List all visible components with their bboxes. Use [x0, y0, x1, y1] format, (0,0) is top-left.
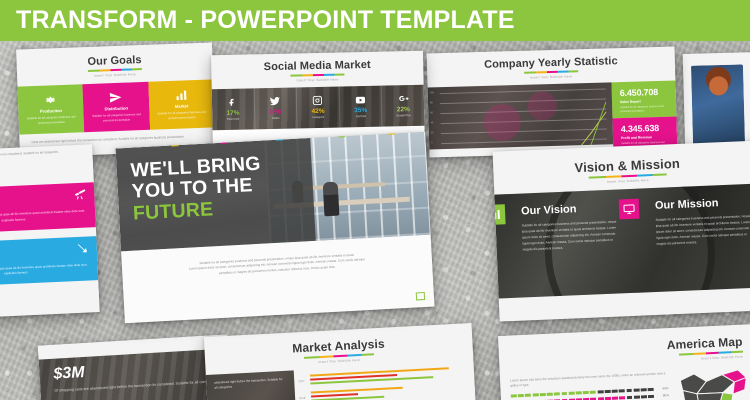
youtube-icon	[354, 94, 367, 105]
mission-body: Suitable for all categories business and…	[655, 212, 750, 246]
vision-mission-body: Our Vision Suitable for all categories b…	[494, 183, 750, 298]
line-chart-series	[440, 88, 611, 149]
goals-column-desc: Suitable for all categories business and…	[90, 112, 144, 123]
goals-footer-text: carts are abandoned right before the tra…	[31, 133, 203, 145]
testimonial-avatar	[691, 64, 745, 145]
hero-office-photo: WE'LL BRING YOU TO THE FUTURE	[115, 132, 430, 252]
vision-column[interactable]: Our Vision Suitable for all categories b…	[494, 189, 632, 299]
swot-block-desc: categories business and personal neque i…	[0, 209, 88, 227]
telescope-icon	[73, 188, 87, 207]
vision-heading: Our Vision	[521, 201, 619, 217]
header-banner: TRANSFORM - POWERPOINT TEMPLATE	[0, 0, 750, 41]
statistic-cards: 6.450.708 Sales Report Suitable for all …	[611, 80, 677, 144]
goals-column-desc: Suitable for all categories business and…	[25, 115, 79, 126]
paper-plane-icon	[108, 91, 123, 105]
map-body-text: Lorem Ipsum has been the industry's stan…	[510, 371, 668, 389]
social-stat-label: Google Plus	[396, 114, 411, 117]
slide-market-analysis[interactable]: Market Analysis Insert Your Subtitle Her…	[204, 323, 476, 400]
social-stat-youtube[interactable]: 35% YouTube	[339, 85, 382, 127]
monitor-icon	[619, 198, 640, 219]
social-stat-google-plus[interactable]: 22% Google Plus	[382, 84, 424, 126]
social-stat-value: 17%	[226, 110, 239, 117]
mission-heading: Our Mission	[655, 195, 750, 211]
stat-label: Profit and Revenue	[621, 135, 671, 140]
gear-icon	[44, 93, 57, 106]
social-stat-label: Twitter	[272, 117, 280, 120]
social-stat-label: YouTube	[356, 115, 367, 118]
slide-three-million[interactable]: $3M Of shopping carts are abandoned righ…	[38, 334, 232, 400]
stat-card-sales-report[interactable]: 6.450.708 Sales Report Suitable for all …	[611, 80, 676, 118]
stat-label: Sales Report	[620, 98, 670, 103]
facebook-icon	[226, 97, 239, 108]
map-progress-bars: 60%80%	[511, 387, 669, 400]
stat-number: 4.345.638	[621, 123, 671, 134]
social-stat-label: Face book	[227, 118, 240, 121]
map-progress-value: 60%	[657, 387, 669, 392]
yearly-line-chart: 100 80 60 40 20 0	[428, 82, 614, 149]
swot-block-weakness[interactable]: Weakness categories business and persona…	[0, 183, 96, 235]
google-plus-icon	[396, 93, 409, 104]
goals-column-production[interactable]: Production Suitable for all categories b…	[17, 84, 84, 134]
market-bar-category: 2017	[298, 378, 307, 382]
bar-chart-icon	[494, 204, 505, 225]
page-title: TRANSFORM - POWERPOINT TEMPLATE	[0, 6, 515, 35]
social-stat-value: 42%	[312, 108, 325, 115]
goals-column-market[interactable]: Market Suitable for all categories busin…	[148, 79, 215, 129]
map-progress-value: 80%	[657, 394, 669, 399]
slide-company-yearly-statistic[interactable]: Company Yearly Statistic Insert Your Sub…	[427, 47, 678, 158]
slide-swot-analysis[interactable]: carts are abandoned right before the tra…	[0, 144, 100, 320]
slide-our-goals[interactable]: Our Goals Insert Your Subtitle Here Prod…	[16, 42, 216, 157]
america-map-graphic	[676, 367, 750, 400]
market-side-panel: abandoned right before the transaction. …	[206, 370, 297, 400]
hero-text-overlay: WE'LL BRING YOU TO THE FUTURE	[115, 138, 316, 251]
goals-columns: Production Suitable for all categories b…	[17, 79, 215, 134]
statistic-body: 100 80 60 40 20 0 6.450.708 Sales Report…	[428, 80, 678, 149]
stat-desc: Suitable for all categories business and…	[620, 104, 670, 114]
social-stat-label: Instagram	[312, 116, 324, 119]
market-bar-group: 2018	[299, 383, 469, 400]
goals-column-label: Market	[175, 103, 189, 108]
hero-corner-marker	[416, 292, 425, 300]
swot-block-threats[interactable]: Threats categories business and personal…	[0, 236, 98, 288]
social-stat-twitter[interactable]: 38% Twitter	[254, 87, 297, 129]
swot-block-desc: categories business and personal neque i…	[0, 262, 90, 280]
bar-chart-icon	[174, 88, 187, 101]
slide-hero-future[interactable]: WE'LL BRING YOU TO THE FUTURE Suitable f…	[115, 132, 434, 324]
social-stat-value: 38%	[269, 109, 282, 116]
twitter-icon	[269, 96, 282, 107]
social-stat-value: 22%	[397, 106, 410, 113]
stat-number: 6.450.708	[620, 86, 670, 97]
market-bar-category: 2018	[299, 395, 308, 399]
goals-title: Our Goals	[16, 51, 212, 70]
goals-subtitle: Insert Your Subtitle Here	[17, 69, 213, 80]
goals-column-label: Production	[40, 108, 62, 114]
social-subtitle: Insert Your Subtitle Here	[211, 75, 423, 83]
arrow-down-icon	[76, 241, 90, 260]
slide-america-map[interactable]: America Map Insert Your Subtitle Here Lo…	[498, 324, 750, 400]
vision-body: Suitable for all categories business and…	[522, 218, 621, 252]
goals-column-distribution[interactable]: Distribution Suitable for all categories…	[83, 81, 150, 131]
social-stat-instagram[interactable]: 42% Instagram	[297, 86, 340, 128]
market-side-text: abandoned right before the transaction. …	[214, 376, 286, 391]
social-stat-facebook[interactable]: 17% Face book	[212, 88, 255, 130]
rainbow-divider	[524, 70, 578, 73]
slide-vision-mission[interactable]: Vision & Mission Insert Your Subtitle He…	[493, 140, 750, 321]
goals-column-label: Distribution	[104, 106, 128, 112]
social-header: Social Media Market Insert Your Subtitle…	[211, 51, 424, 89]
goals-column-desc: Suitable for all categories business and…	[155, 110, 209, 121]
statistic-title: Company Yearly Statistic	[427, 54, 675, 73]
swot-title: s	[0, 154, 93, 182]
social-title: Social Media Market	[211, 58, 423, 74]
rainbow-divider	[290, 73, 344, 76]
social-stats-band: 17% Face book 38% Twitter 42% Instagram	[212, 84, 425, 129]
mission-column[interactable]: Our Mission Suitable for all categories …	[628, 183, 750, 293]
instagram-icon	[311, 95, 324, 106]
social-stat-value: 35%	[354, 107, 367, 114]
